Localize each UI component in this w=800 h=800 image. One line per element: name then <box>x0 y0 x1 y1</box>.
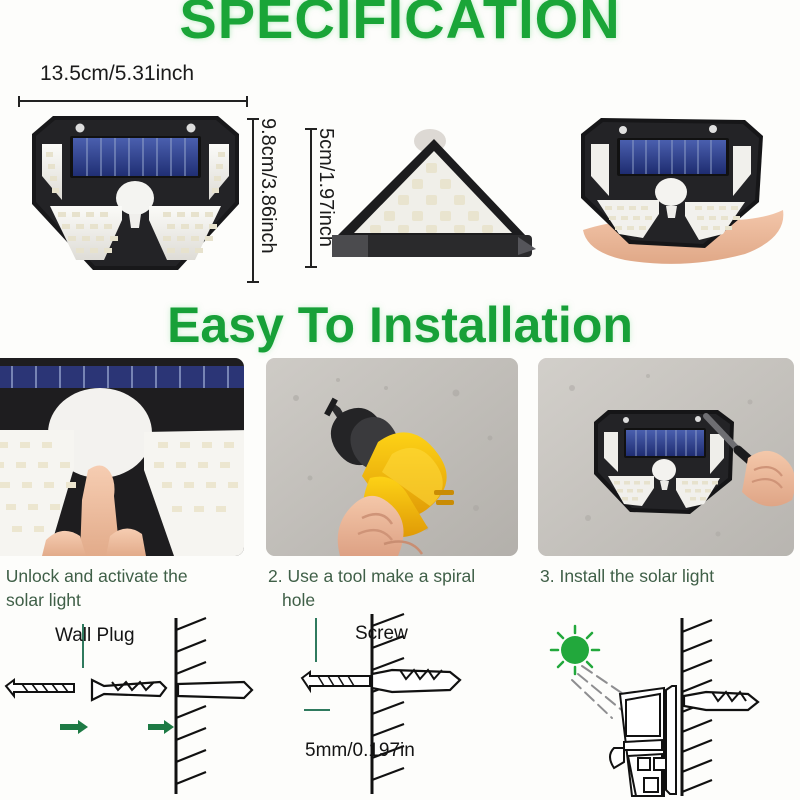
installation-photo-step-2 <box>266 358 518 556</box>
sun-icon <box>551 626 599 674</box>
dimension-bar <box>18 100 248 102</box>
dimension-width-line <box>18 96 248 106</box>
section-title-installation: Easy To Installation <box>0 296 800 354</box>
label-hole-size: 5mm/0.197in <box>305 740 415 762</box>
installation-photo-step-3 <box>538 358 794 556</box>
caption-line-2: hole <box>268 589 518 613</box>
product-image-side-view <box>322 125 547 275</box>
product-image-in-hand <box>565 112 795 280</box>
dimension-cap-right <box>246 96 248 107</box>
caption-line-1: . Unlock and activate the <box>0 566 188 586</box>
caption-line-2: solar light <box>0 589 236 613</box>
dimension-height-label: 9.8cm/3.86inch <box>256 118 279 254</box>
product-image-front-view <box>18 108 253 283</box>
diagram-mounted-light-with-sun <box>520 608 800 798</box>
page-title-specification: SPECIFICATION <box>0 0 800 51</box>
installation-caption-step-2: 2. Use a tool make a spiral hole <box>268 565 518 612</box>
label-screw: Screw <box>355 623 408 645</box>
dimension-cap-bottom <box>305 266 317 268</box>
diagram-wall-plug-insertion <box>0 612 270 797</box>
dimension-bar <box>310 128 312 268</box>
product-specification-page: SPECIFICATION 13.5cm/5.31inch 9.8cm/3.86… <box>0 0 800 800</box>
installation-caption-step-3: 3. Install the solar light <box>540 565 800 589</box>
installation-caption-step-1: . Unlock and activate the solar light <box>0 565 236 612</box>
diagram-screw-into-plug <box>300 612 530 797</box>
label-wall-plug: Wall Plug <box>55 625 135 647</box>
installation-photo-step-1 <box>0 358 244 556</box>
caption-line-1: 2. Use a tool make a spiral <box>268 566 475 586</box>
dimension-width-label: 13.5cm/5.31inch <box>40 62 194 86</box>
caption-line-1: 3. Install the solar light <box>540 566 714 586</box>
